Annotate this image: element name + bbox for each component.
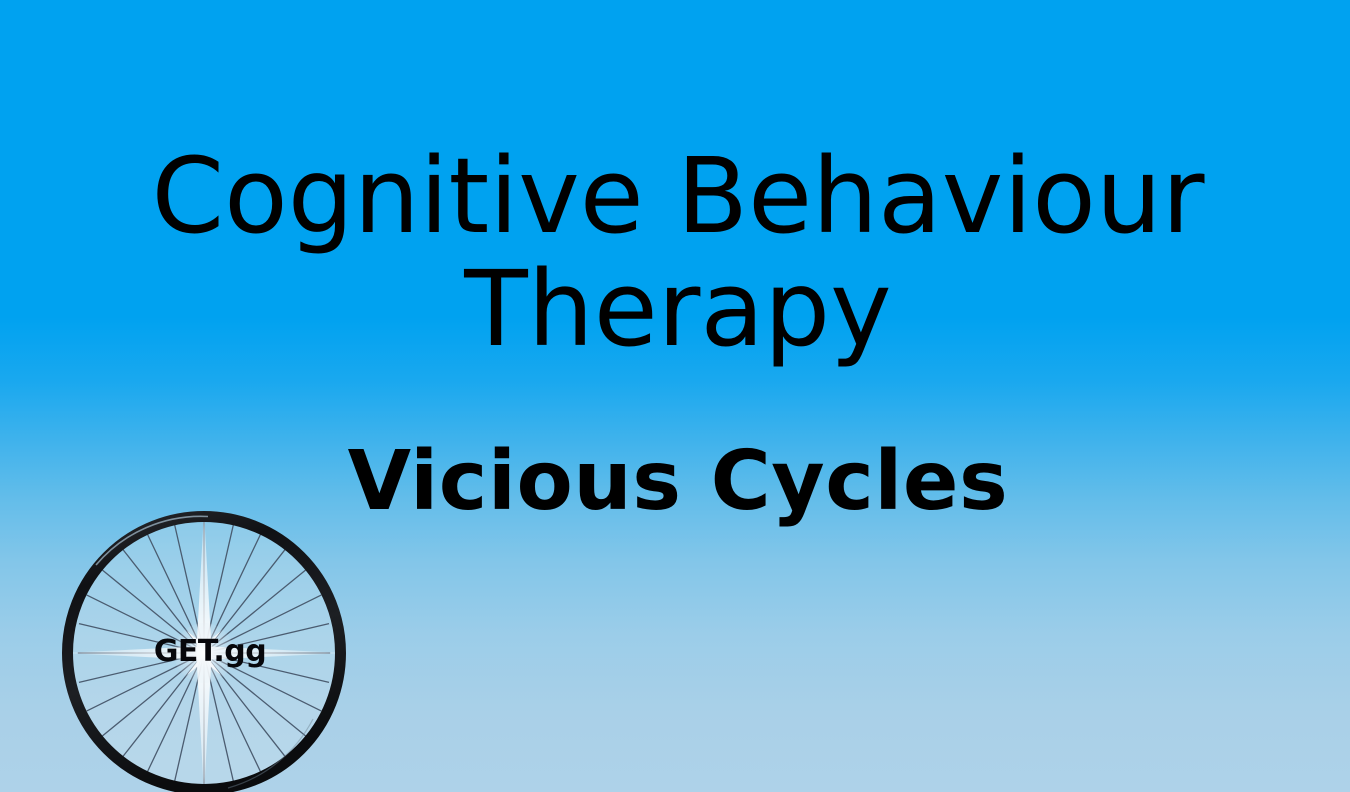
title-line-2: Therapy	[6, 253, 1350, 366]
bicycle-wheel-icon	[58, 507, 350, 792]
title-line-1: Cognitive Behaviour	[6, 140, 1350, 253]
page-title: Cognitive Behaviour Therapy	[0, 140, 1350, 366]
get-gg-logo: GET.gg	[58, 507, 350, 792]
presentation-slide: Cognitive Behaviour Therapy Vicious Cycl…	[0, 0, 1350, 792]
